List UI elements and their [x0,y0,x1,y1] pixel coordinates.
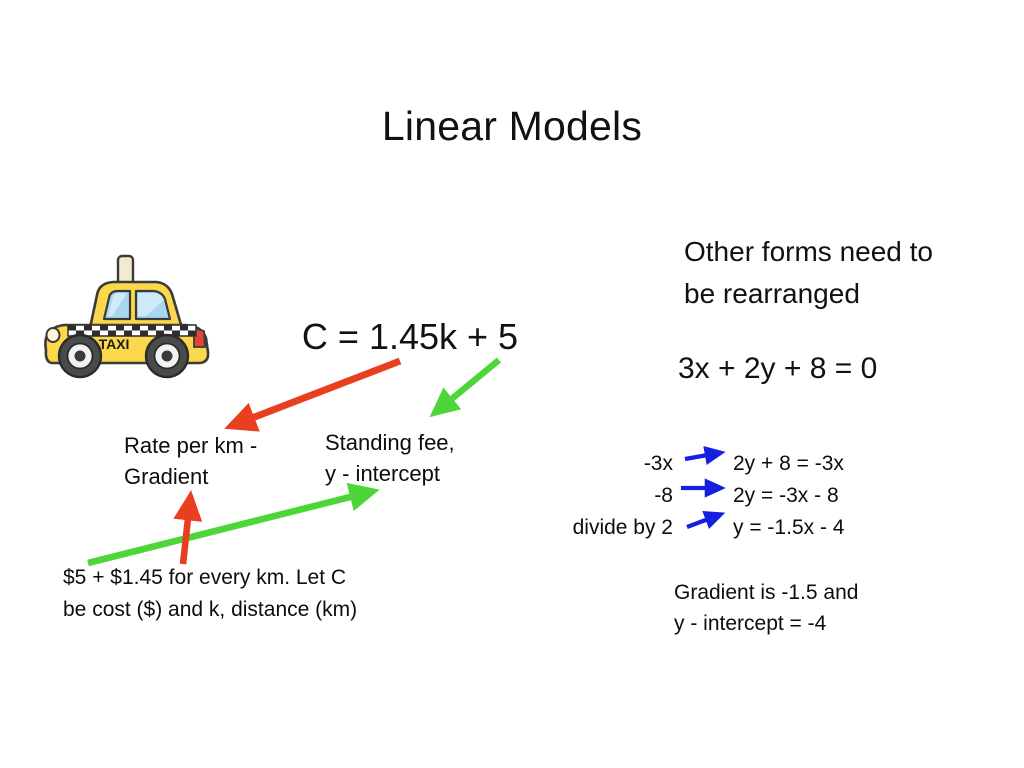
other-forms-heading-line2: be rearranged [684,273,1014,315]
other-forms-heading: Other forms need to be rearranged [684,231,1014,315]
rearrangement-step-1: -3x 2y + 8 = -3x [548,438,908,470]
step-1-arrow-slot [681,438,729,470]
red-arrow-to-gradient-label [234,361,400,425]
other-forms-heading-line1: Other forms need to [684,231,1014,273]
rearrangement-steps: -3x 2y + 8 = -3x -8 [548,438,908,534]
cost-context-line2: be cost ($) and k, distance (km) [63,594,483,626]
blue-arrow-right-icon [681,470,729,502]
step-3-result: y = -1.5x - 4 [729,516,844,540]
green-arrow-to-intercept-label [437,360,499,411]
gradient-label-line2: Gradient [124,461,324,492]
cost-context-line1: $5 + $1.45 for every km. Let C [63,562,483,594]
slide-canvas: Linear Models [0,0,1024,768]
page-title: Linear Models [0,103,1024,150]
step-3-operation: divide by 2 [548,516,681,540]
step-3-arrow-slot [681,502,729,534]
conclusion-line2: y - intercept = -4 [674,608,974,639]
y-intercept-label-line1: Standing fee, [325,427,505,458]
conclusion-line1: Gradient is -1.5 and [674,577,974,608]
step-1-result: 2y + 8 = -3x [729,452,844,476]
blue-arrow-up-right-icon [681,502,729,534]
green-arrow-from-context-to-intercept [88,492,370,563]
step-2-arrow-slot [681,470,729,502]
red-arrow-from-context-to-gradient [183,500,190,564]
y-intercept-label: Standing fee, y - intercept [325,427,505,489]
blue-arrow-right-icon [681,438,729,470]
gradient-label-line1: Rate per km - [124,430,324,461]
standard-form-equation: 3x + 2y + 8 = 0 [678,352,978,386]
step-2-result: 2y = -3x - 8 [729,484,839,508]
step-2-operation: -8 [548,484,681,508]
gradient-label: Rate per km - Gradient [124,430,324,492]
y-intercept-label-line2: y - intercept [325,458,505,489]
conclusion-note: Gradient is -1.5 and y - intercept = -4 [674,577,974,639]
step-1-operation: -3x [548,452,681,476]
cost-context-note: $5 + $1.45 for every km. Let C be cost (… [63,562,483,626]
